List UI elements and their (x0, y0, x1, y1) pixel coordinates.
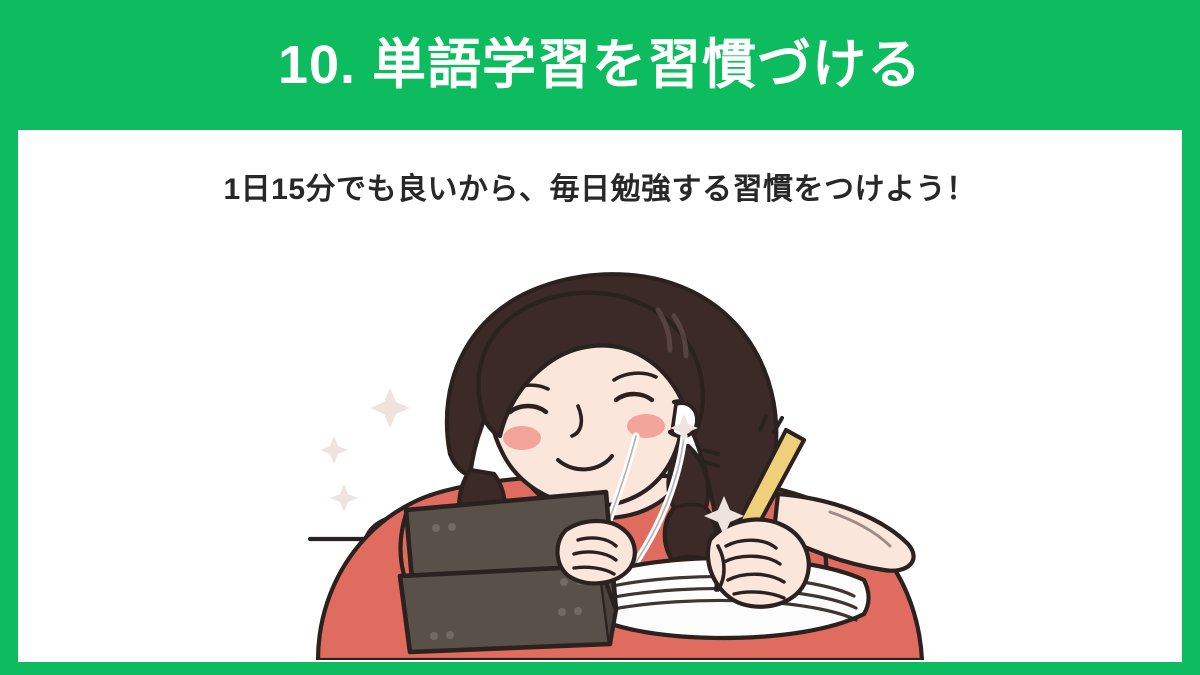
illustration-girl-studying (18, 240, 1182, 660)
slide-root: 10. 単語学習を習慣づける 1日15分でも良いから、毎日勉強する習慣をつけよう… (0, 0, 1200, 675)
title-band: 10. 単語学習を習慣づける (0, 0, 1200, 130)
illustration-svg (18, 240, 1182, 660)
page-title: 10. 単語学習を習慣づける (278, 38, 922, 92)
subtitle-text: 1日15分でも良いから、毎日勉強する習慣をつけよう！ (18, 172, 1182, 208)
content-card: 1日15分でも良いから、毎日勉強する習慣をつけよう！ (18, 130, 1182, 662)
